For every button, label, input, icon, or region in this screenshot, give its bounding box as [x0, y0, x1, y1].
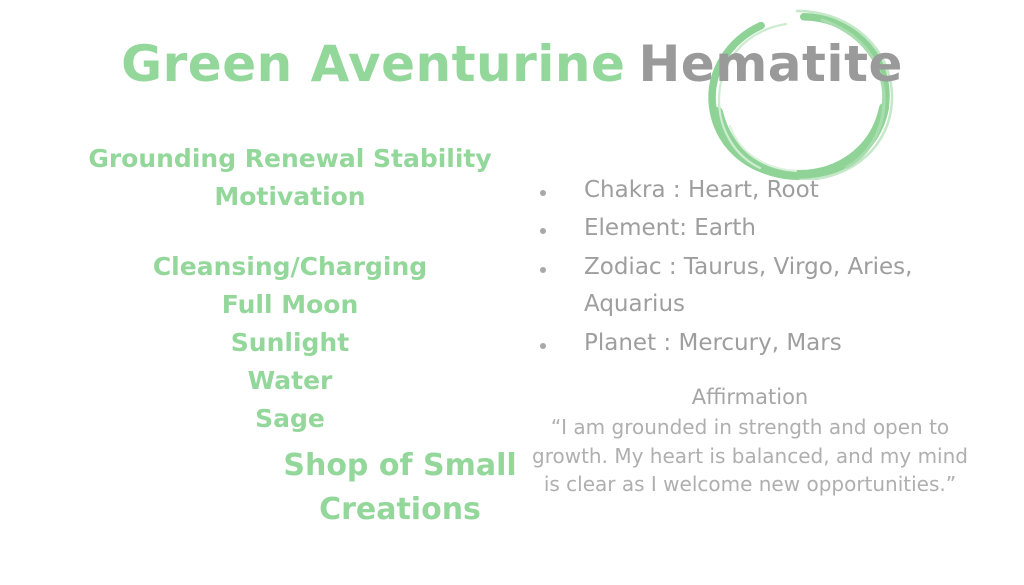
cleansing-heading: Cleansing/Charging — [60, 248, 520, 286]
cleansing-block: Cleansing/Charging Full Moon Sunlight Wa… — [60, 248, 520, 438]
correspondence-zodiac: Zodiac : Taurus, Virgo, Aries, Aquarius — [584, 249, 1006, 324]
title-crystal-primary: Green Aventurine — [121, 35, 625, 93]
property-line-2: Motivation — [60, 178, 520, 216]
affirmation-heading: Affirmation — [525, 383, 975, 411]
cleansing-method-1: Full Moon — [60, 286, 520, 324]
list-item: Planet : Mercury, Mars — [528, 325, 1006, 362]
correspondences-list: Chakra : Heart, Root Element: Earth Zodi… — [528, 172, 1006, 363]
left-column: Grounding Renewal Stability Motivation C… — [60, 140, 520, 438]
affirmation-block: Affirmation “I am grounded in strength a… — [525, 383, 975, 499]
poster-canvas: Green AventurineHematite Grounding Renew… — [0, 0, 1024, 585]
correspondence-element: Element: Earth — [584, 210, 1006, 247]
title-crystal-secondary: Hematite — [638, 35, 902, 93]
list-item: Zodiac : Taurus, Virgo, Aries, Aquarius — [528, 249, 1006, 324]
brush-circle-ring-icon — [700, 8, 896, 180]
list-item: Element: Earth — [528, 210, 1006, 247]
cleansing-method-3: Water — [60, 362, 520, 400]
bullet-dot-icon — [540, 343, 546, 349]
page-title: Green AventurineHematite — [0, 38, 1024, 91]
bullet-list: Chakra : Heart, Root Element: Earth Zodi… — [528, 172, 1006, 362]
list-item: Chakra : Heart, Root — [528, 172, 1006, 209]
correspondence-chakra: Chakra : Heart, Root — [584, 172, 1006, 209]
properties-block: Grounding Renewal Stability Motivation — [60, 140, 520, 216]
bullet-dot-icon — [540, 190, 546, 196]
section-divider — [60, 216, 520, 248]
property-line-1: Grounding Renewal Stability — [60, 140, 520, 178]
bullet-dot-icon — [540, 267, 546, 273]
cleansing-method-2: Sunlight — [60, 324, 520, 362]
affirmation-quote: “I am grounded in strength and open to g… — [525, 413, 975, 498]
correspondence-planet: Planet : Mercury, Mars — [584, 325, 1006, 362]
cleansing-method-4: Sage — [60, 400, 520, 438]
bullet-dot-icon — [540, 228, 546, 234]
